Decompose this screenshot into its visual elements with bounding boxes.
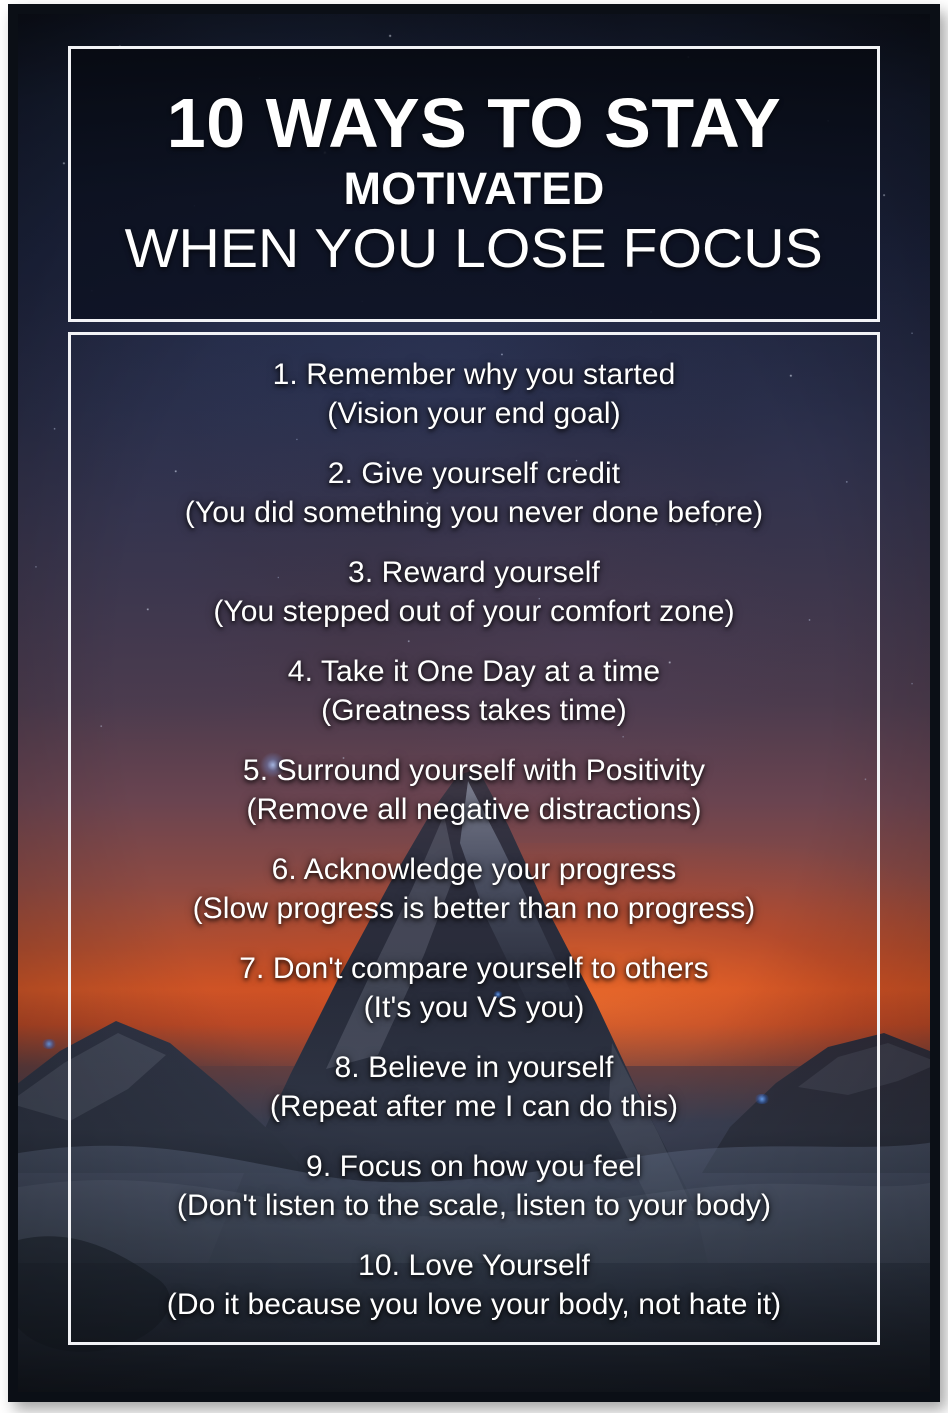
list-item-main: 5. Surround yourself with Positivity: [85, 751, 863, 790]
list-item-main: 6. Acknowledge your progress: [85, 850, 863, 889]
list-item-sub: (Repeat after me I can do this): [85, 1087, 863, 1126]
poster-title-line-2: MOTIVATED: [343, 166, 604, 211]
list-item-sub: (It's you VS you): [85, 988, 863, 1027]
list-item: 7. Don't compare yourself to others (It'…: [85, 949, 863, 1027]
list-item: 5. Surround yourself with Positivity (Re…: [85, 751, 863, 829]
list-item: 1. Remember why you started (Vision your…: [85, 355, 863, 433]
list-item-main: 9. Focus on how you feel: [85, 1147, 863, 1186]
list-item: 10. Love Yourself (Do it because you lov…: [85, 1246, 863, 1324]
title-box: 10 WAYS TO STAY MOTIVATED WHEN YOU LOSE …: [68, 46, 880, 322]
poster-canvas: 10 WAYS TO STAY MOTIVATED WHEN YOU LOSE …: [8, 4, 940, 1402]
list-item: 9. Focus on how you feel (Don't listen t…: [85, 1147, 863, 1225]
list-item-sub: (Remove all negative distractions): [85, 790, 863, 829]
list-item-main: 4. Take it One Day at a time: [85, 652, 863, 691]
list-item-main: 10. Love Yourself: [85, 1246, 863, 1285]
list-item: 3. Reward yourself (You stepped out of y…: [85, 553, 863, 631]
list-item-main: 3. Reward yourself: [85, 553, 863, 592]
list-item-sub: (Vision your end goal): [85, 394, 863, 433]
list-item-main: 8. Believe in yourself: [85, 1048, 863, 1087]
list-item-main: 2. Give yourself credit: [85, 454, 863, 493]
list-item: 8. Believe in yourself (Repeat after me …: [85, 1048, 863, 1126]
list-item-sub: (You stepped out of your comfort zone): [85, 592, 863, 631]
list-item-main: 1. Remember why you started: [85, 355, 863, 394]
poster-title-line-1: 10 WAYS TO STAY: [167, 88, 781, 158]
list-item-sub: (Don't listen to the scale, listen to yo…: [85, 1186, 863, 1225]
poster-title-line-3: WHEN YOU LOSE FOCUS: [125, 221, 823, 276]
list-item-sub: (Slow progress is better than no progres…: [85, 889, 863, 928]
blue-light-icon: [41, 1039, 57, 1049]
tips-list-box: 1. Remember why you started (Vision your…: [68, 332, 880, 1345]
list-item-sub: (Do it because you love your body, not h…: [85, 1285, 863, 1324]
list-item-main: 7. Don't compare yourself to others: [85, 949, 863, 988]
list-item: 4. Take it One Day at a time (Greatness …: [85, 652, 863, 730]
list-item: 6. Acknowledge your progress (Slow progr…: [85, 850, 863, 928]
list-item: 2. Give yourself credit (You did somethi…: [85, 454, 863, 532]
list-item-sub: (Greatness takes time): [85, 691, 863, 730]
list-item-sub: (You did something you never done before…: [85, 493, 863, 532]
